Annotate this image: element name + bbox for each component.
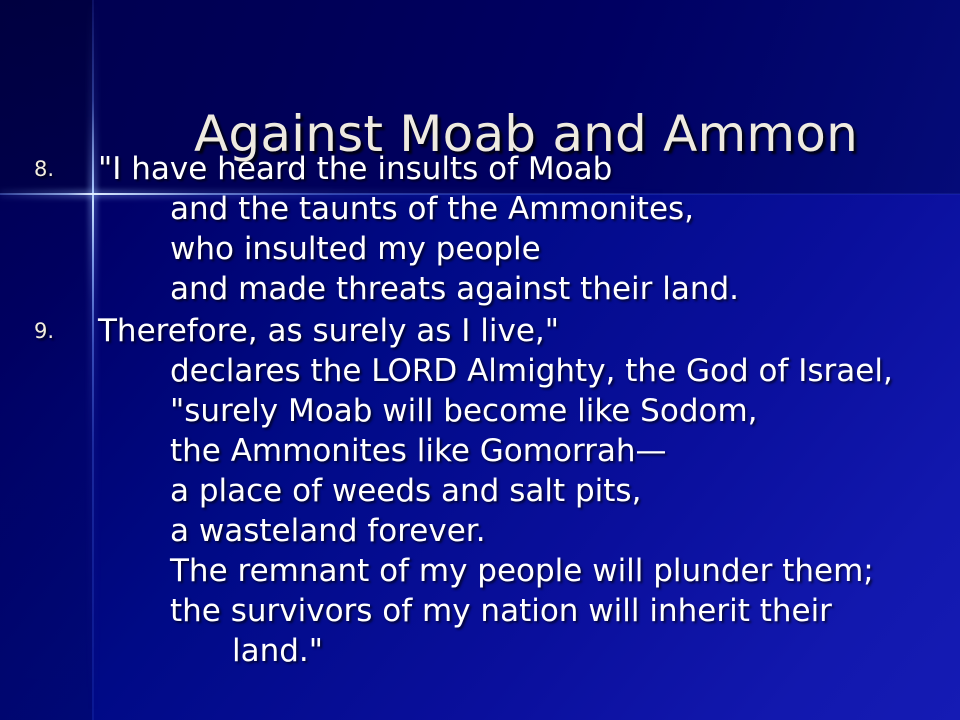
verse-line: declares the LORD Almighty, the God of I… — [98, 351, 960, 391]
presentation-slide: Against Moab and Ammon 8."I have heard t… — [0, 0, 960, 720]
verse-line: a wasteland forever. — [98, 511, 960, 551]
verse-line: "surely Moab will become like Sodom, — [98, 391, 960, 431]
verse-block: 8."I have heard the insults of Moaband t… — [0, 149, 960, 309]
verse-line: and made threats against their land. — [98, 269, 960, 309]
verse-line: "I have heard the insults of Moab — [98, 149, 960, 189]
verse-line: and the taunts of the Ammonites, — [98, 189, 960, 229]
verse-line: The remnant of my people will plunder th… — [98, 551, 960, 591]
verse-line: a place of weeds and salt pits, — [98, 471, 960, 511]
verse-line: the Ammonites like Gomorrah— — [98, 431, 960, 471]
verse-lines: "I have heard the insults of Moaband the… — [0, 149, 960, 309]
slide-body: 8."I have heard the insults of Moaband t… — [0, 149, 960, 671]
verse-number: 9. — [34, 311, 84, 351]
verse-line: who insulted my people — [98, 229, 960, 269]
verse-block: 9.Therefore, as surely as I live,"declar… — [0, 311, 960, 671]
verse-number: 8. — [34, 149, 84, 189]
verse-line: land." — [98, 631, 960, 671]
verse-line: the survivors of my nation will inherit … — [98, 591, 960, 631]
verse-line: Therefore, as surely as I live," — [98, 311, 960, 351]
verse-lines: Therefore, as surely as I live,"declares… — [0, 311, 960, 671]
